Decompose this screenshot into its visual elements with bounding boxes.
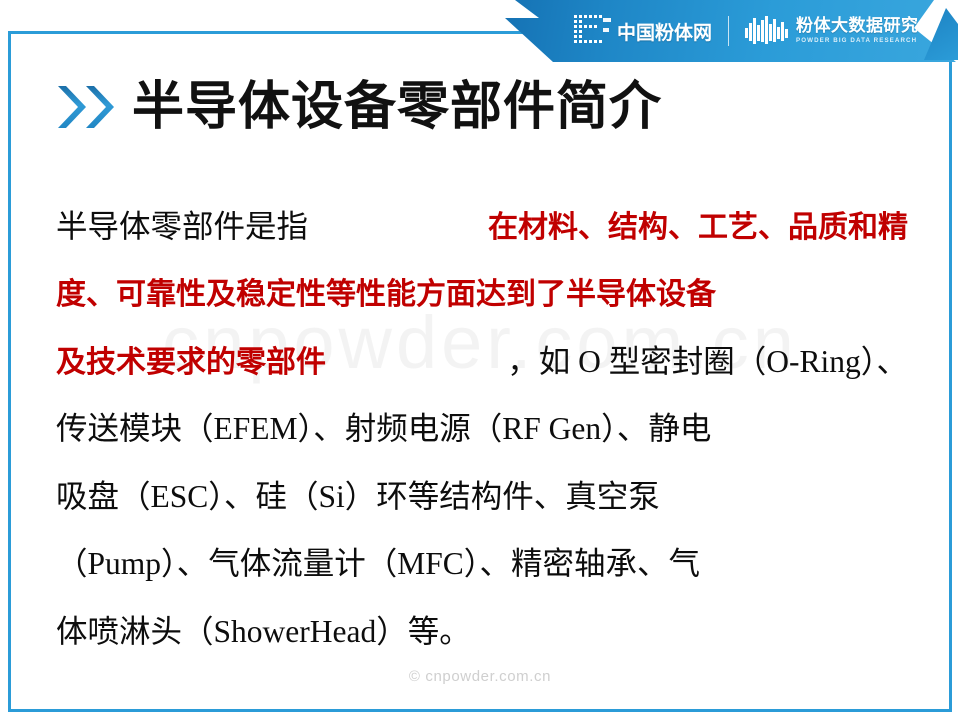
text-segment-highlight: 及技术要求的零部件	[56, 337, 326, 381]
body-paragraph: 半导体零部件是指 在材料、结构、工艺、品质和精 度、可靠性及稳定性等性能方面达到…	[56, 190, 908, 663]
text-line: 体喷淋头（ShowerHead）等。	[56, 595, 908, 663]
footer-copyright: © cnpowder.com.cn	[0, 668, 960, 685]
page-title-row: 半导体设备零部件简介	[56, 80, 662, 135]
text-line: 半导体零部件是指 在材料、结构、工艺、品质和精	[56, 190, 908, 258]
header-divider	[728, 16, 729, 46]
slide: 中国粉体网	[0, 0, 960, 720]
text-segment: 吸盘（ESC）、硅（Si）环等结构件、真空泵	[56, 471, 660, 517]
text-segment: （Pump）、气体流量计（MFC）、精密轴承、气	[56, 538, 700, 584]
text-line: 及技术要求的零部件 ，如 O 型密封圈（O-Ring）、	[56, 325, 908, 393]
text-segment-highlight: 度、可靠性及稳定性等性能方面达到了半导体设备	[56, 269, 716, 313]
brand-secondary-cn-label: 粉体大数据研究	[796, 18, 919, 35]
pixel-f-logo-icon	[573, 14, 613, 48]
page-title: 半导体设备零部件简介	[132, 80, 662, 135]
text-line: （Pump）、气体流量计（MFC）、精密轴承、气	[56, 528, 908, 596]
text-line: 传送模块（EFEM）、射频电源（RF Gen）、静电	[56, 393, 908, 461]
header-ribbon: 中国粉体网	[505, 0, 960, 62]
header-logos: 中国粉体网	[505, 0, 960, 62]
text-segment: 体喷淋头（ShowerHead）等。	[56, 606, 471, 652]
text-segment: 传送模块（EFEM）、射频电源（RF Gen）、静电	[56, 403, 711, 449]
text-segment: 半导体零部件是指	[56, 201, 308, 247]
sound-bars-icon	[745, 16, 789, 46]
text-line: 度、可靠性及稳定性等性能方面达到了半导体设备	[56, 258, 908, 326]
text-line: 吸盘（ESC）、硅（Si）环等结构件、真空泵	[56, 460, 908, 528]
text-segment: ，如 O 型密封圈（O-Ring）、	[507, 336, 908, 382]
brand-secondary-en-label: POWDER BIG DATA RESEARCH	[796, 38, 919, 44]
brand-secondary: 粉体大数据研究 POWDER BIG DATA RESEARCH	[796, 18, 919, 44]
double-chevron-right-icon	[56, 80, 118, 134]
text-segment-highlight: 在材料、结构、工艺、品质和精	[488, 202, 908, 246]
brand-primary-label: 中国粉体网	[617, 18, 712, 45]
